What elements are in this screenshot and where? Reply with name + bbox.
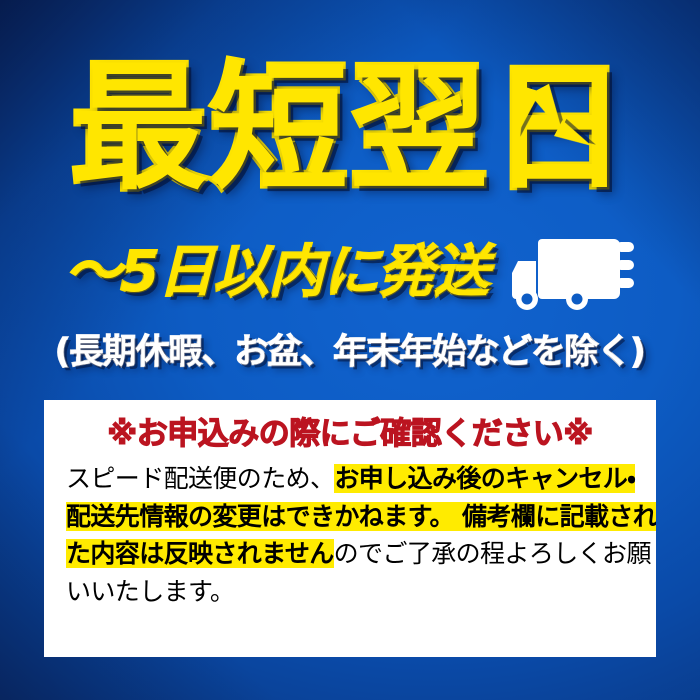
shipping-window-block: 〜5日以内に発送 (0, 240, 700, 306)
plain-text: のでご了承の程よろしくお願 (334, 539, 651, 568)
delivery-truck-icon (504, 235, 634, 311)
page-title: 最短翌日 (0, 60, 700, 198)
promo-banner: 最短翌日 〜5日以内に発送 (長期休暇、お盆、年末年始などを除く) (0, 0, 700, 700)
plain-text: スピード配送便のため、 (66, 464, 334, 493)
shipping-window-label: 〜5日以内に発送 (66, 245, 489, 301)
highlighted-text: 配送先情報の変更はできかねます。 備考欄に記載され (66, 502, 656, 531)
notice-heading: ※お申込みの際にご確認ください※ (66, 414, 634, 454)
exclusions-note: (長期休暇、お盆、年末年始などを除く) (0, 332, 700, 373)
headline-block: 最短翌日 (0, 60, 700, 230)
notice-body-line: 配送先情報の変更はできかねます。 備考欄に記載され (66, 498, 634, 536)
notice-body-line: スピード配送便のため、お申し込み後のキャンセル・ (66, 460, 634, 498)
highlighted-text: た内容は反映されません (66, 539, 334, 568)
notice-body-line: た内容は反映されませんのでご了承の程よろしくお願 (66, 535, 634, 573)
notice-card: ※お申込みの際にご確認ください※ スピード配送便のため、お申し込み後のキャンセル… (44, 400, 656, 657)
notice-body: スピード配送便のため、お申し込み後のキャンセル・配送先情報の変更はできかねます。… (66, 460, 634, 610)
plain-text: いいたします。 (66, 577, 234, 606)
notice-body-line: いいたします。 (66, 573, 634, 611)
highlighted-text: お申し込み後のキャンセル・ (334, 464, 635, 493)
